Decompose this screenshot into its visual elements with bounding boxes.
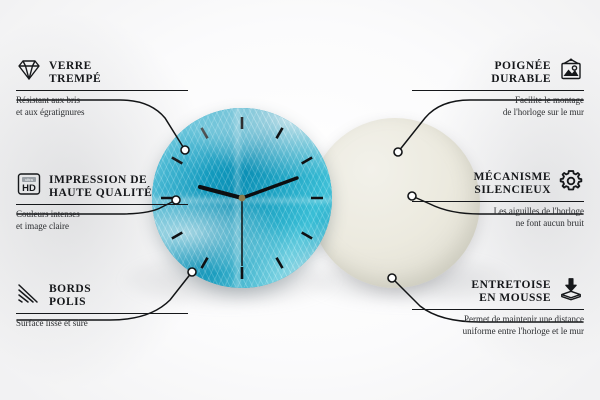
- feature-title-line2: HAUTE QUALITÉ: [49, 187, 152, 199]
- feature-title: ENTRETOISEEN MOUSSE: [471, 279, 551, 305]
- feature-desc-line1: Facilite le montage: [515, 95, 584, 105]
- feature-impression-haute-qualite: ultra HD IMPRESSION DEHAUTE QUALITÉ Coul…: [16, 172, 188, 232]
- feature-desc-line2: uniforme entre l'horloge et le mur: [463, 326, 584, 336]
- hanging-frame-icon: [558, 58, 584, 87]
- feature-desc-line1: Les aiguilles de l'horloge: [494, 206, 584, 216]
- foam-spacer-icon: [558, 277, 584, 306]
- feature-header: POIGNÉEDURABLE: [412, 58, 584, 90]
- feature-title-line1: BORDS: [49, 283, 91, 295]
- feature-title-line1: ENTRETOISE: [471, 279, 551, 291]
- feature-title: MÉCANISMESILENCIEUX: [474, 171, 551, 197]
- feature-header: MÉCANISMESILENCIEUX: [412, 169, 584, 201]
- feature-description: Surface lisse et sûre: [16, 318, 188, 330]
- feature-header: ultra HD IMPRESSION DEHAUTE QUALITÉ: [16, 172, 188, 204]
- polished-edges-icon: [16, 281, 42, 310]
- product-infographic: VERRETREMPÉ Résistant aux briset aux égr…: [0, 0, 600, 400]
- feature-divider: [16, 313, 188, 314]
- feature-title: IMPRESSION DEHAUTE QUALITÉ: [49, 174, 152, 200]
- feature-verre-trempe: VERRETREMPÉ Résistant aux briset aux égr…: [16, 58, 188, 118]
- ultra-hd-icon: ultra HD: [16, 172, 42, 201]
- feature-title-line2: DURABLE: [491, 73, 551, 85]
- feature-description: Facilite le montagede l'horloge sur le m…: [412, 95, 584, 118]
- feature-title-line2: SILENCIEUX: [474, 184, 551, 196]
- feature-title: BORDSPOLIS: [49, 283, 91, 309]
- feature-title-line1: POIGNÉE: [494, 60, 551, 72]
- ultra-label: ultra: [25, 177, 34, 182]
- feature-title: VERRETREMPÉ: [49, 60, 101, 86]
- feature-title-line1: IMPRESSION DE: [49, 174, 147, 186]
- feature-desc-line1: Couleurs intenses: [16, 209, 80, 219]
- feature-title-line2: POLIS: [49, 296, 86, 308]
- feature-divider: [412, 309, 584, 310]
- feature-desc-line1: Surface lisse et sûre: [16, 318, 88, 328]
- diamond-icon: [16, 58, 42, 87]
- feature-bords-polis: BORDSPOLIS Surface lisse et sûre: [16, 281, 188, 330]
- feature-header: ENTRETOISEEN MOUSSE: [412, 277, 584, 309]
- feature-header: VERRETREMPÉ: [16, 58, 188, 90]
- feature-desc-line2: de l'horloge sur le mur: [503, 107, 584, 117]
- feature-title-line2: EN MOUSSE: [479, 292, 551, 304]
- feature-desc-line1: Permet de maintenir une distance: [464, 314, 584, 324]
- feature-divider: [16, 90, 188, 91]
- feature-header: BORDSPOLIS: [16, 281, 188, 313]
- feature-description: Résistant aux briset aux égratignures: [16, 95, 188, 118]
- gear-icon: [558, 169, 584, 198]
- feature-divider: [16, 204, 188, 205]
- feature-divider: [412, 201, 584, 202]
- hd-label: HD: [22, 183, 36, 194]
- feature-desc-line2: et image claire: [16, 221, 69, 231]
- feature-title-line1: MÉCANISME: [474, 171, 551, 183]
- feature-title-line1: VERRE: [49, 60, 92, 72]
- feature-description: Couleurs intenseset image claire: [16, 209, 188, 232]
- leader-endpoints: [172, 146, 416, 282]
- feature-desc-line2: et aux égratignures: [16, 107, 84, 117]
- feature-divider: [412, 90, 584, 91]
- feature-description: Les aiguilles de l'horlogene font aucun …: [412, 206, 584, 229]
- feature-desc-line1: Résistant aux bris: [16, 95, 80, 105]
- feature-description: Permet de maintenir une distanceuniforme…: [412, 314, 584, 337]
- feature-title-line2: TREMPÉ: [49, 73, 101, 85]
- feature-mecanisme-silencieux: MÉCANISMESILENCIEUX Les aiguilles de l'h…: [412, 169, 584, 229]
- feature-entretoise-en-mousse: ENTRETOISEEN MOUSSE Permet de maintenir …: [412, 277, 584, 337]
- feature-poignee-durable: POIGNÉEDURABLE Facilite le montagede l'h…: [412, 58, 584, 118]
- feature-title: POIGNÉEDURABLE: [491, 60, 551, 86]
- feature-desc-line2: ne font aucun bruit: [516, 218, 584, 228]
